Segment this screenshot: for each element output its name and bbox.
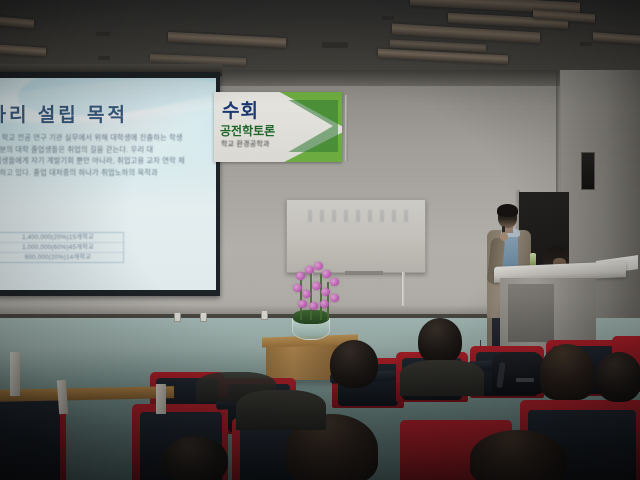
audience-head <box>470 430 566 480</box>
podium-panel <box>508 284 554 342</box>
speaker-hair <box>497 204 518 217</box>
ceiling-light-fixture <box>593 32 640 45</box>
orchid-stem <box>320 274 322 320</box>
orchid-bloom <box>309 302 318 310</box>
slide-table-row: 600,000(20%)14개학교 <box>0 253 123 262</box>
orchid-stem <box>300 276 302 320</box>
orchid-bloom <box>320 300 329 308</box>
audience-head <box>540 344 594 400</box>
whiteboard-writing <box>305 210 409 222</box>
ceiling-light-fixture <box>0 16 34 28</box>
slide-body-text: 현재 저희 학교 전공 연구 기관 실무에서 위해 대학생에 진출하는 학생 구… <box>0 132 214 178</box>
slide-body-line: 현재 저희 학교 전공 연구 기관 실무에서 위해 대학생에 진출하는 학생 <box>0 132 214 144</box>
slide-table: 1,400,000(20%)15개학교 1,000,000(60%)45개학교 … <box>0 232 124 263</box>
auditorium-seat-pad[interactable] <box>0 398 60 480</box>
banner-title-line: 수회 <box>222 96 259 123</box>
audience-head <box>330 340 378 388</box>
slide-title: 동아리 설립 목적 <box>0 100 214 127</box>
audience-head <box>162 436 228 480</box>
ceiling-light-fixture <box>0 44 46 57</box>
audience-head <box>418 318 462 364</box>
orchid-bloom <box>321 288 330 296</box>
orchid-bloom <box>330 278 339 286</box>
rail-post <box>156 384 166 414</box>
rail-post <box>10 352 20 396</box>
banner-subtitle-line: 공전학토론 <box>220 122 275 139</box>
event-banner: 수회 공전학토론 학교 환경공학과 <box>214 92 342 162</box>
slide-body-line: 구는 대부분의 대학 졸업생들은 취업의 길을 걷는다. 우리 대 <box>0 144 214 156</box>
lecture-hall-photo: 동아리 설립 목적 현재 저희 학교 전공 연구 기관 실무에서 위해 대학생에… <box>0 0 640 480</box>
backpack-logo <box>516 378 534 382</box>
orchid-bloom <box>314 262 323 270</box>
orchid-bloom <box>293 284 302 292</box>
orchid-bloom <box>330 294 339 302</box>
audience-shoulders <box>236 390 326 430</box>
whiteboard-marker-tray <box>345 271 383 275</box>
wall-outlet <box>200 312 207 322</box>
speaker-hand <box>500 232 508 241</box>
wall-outlet <box>174 312 181 322</box>
ceiling-vent <box>98 56 110 60</box>
ceiling-light-fixture <box>168 32 286 48</box>
orchid-bloom <box>298 300 307 308</box>
slide-table-row: 1,400,000(20%)15개학교 <box>0 233 123 243</box>
orchid-bloom <box>305 266 314 274</box>
banner-green-graphic <box>276 100 338 152</box>
orchid-bloom <box>302 290 311 298</box>
slide-table-row: 1,000,000(60%)45개학교 <box>0 243 123 253</box>
banner-pole <box>345 95 348 161</box>
ceiling-vent <box>96 32 110 36</box>
orchid-bloom <box>322 270 331 278</box>
whiteboard <box>286 199 426 273</box>
wall-outlet <box>261 310 268 320</box>
slide-body-line: 계로 운영하고 있다. 졸업 대처중의 하나가 취업노하의 목적과 <box>0 167 214 179</box>
orchid-bloom <box>296 272 305 280</box>
orchid-bloom <box>312 282 321 290</box>
banner-department-line: 학교 환경공학과 <box>221 139 270 149</box>
audience-shoulders <box>400 360 484 396</box>
ceiling-light-fixture <box>378 49 508 65</box>
slide-body-line: 행 및 졸업생들에게 자기 계발기회 뿐만 아니라, 취업고용 교차 연락 체 <box>0 155 214 167</box>
ceiling-vent <box>322 42 348 48</box>
audience-head <box>596 352 640 402</box>
projection-screen: 동아리 설립 목적 현재 저희 학교 전공 연구 기관 실무에서 위해 대학생에… <box>0 78 216 290</box>
ceiling-vent <box>382 16 394 20</box>
wall-speaker-icon <box>581 152 595 190</box>
ceiling-vent <box>580 42 592 46</box>
